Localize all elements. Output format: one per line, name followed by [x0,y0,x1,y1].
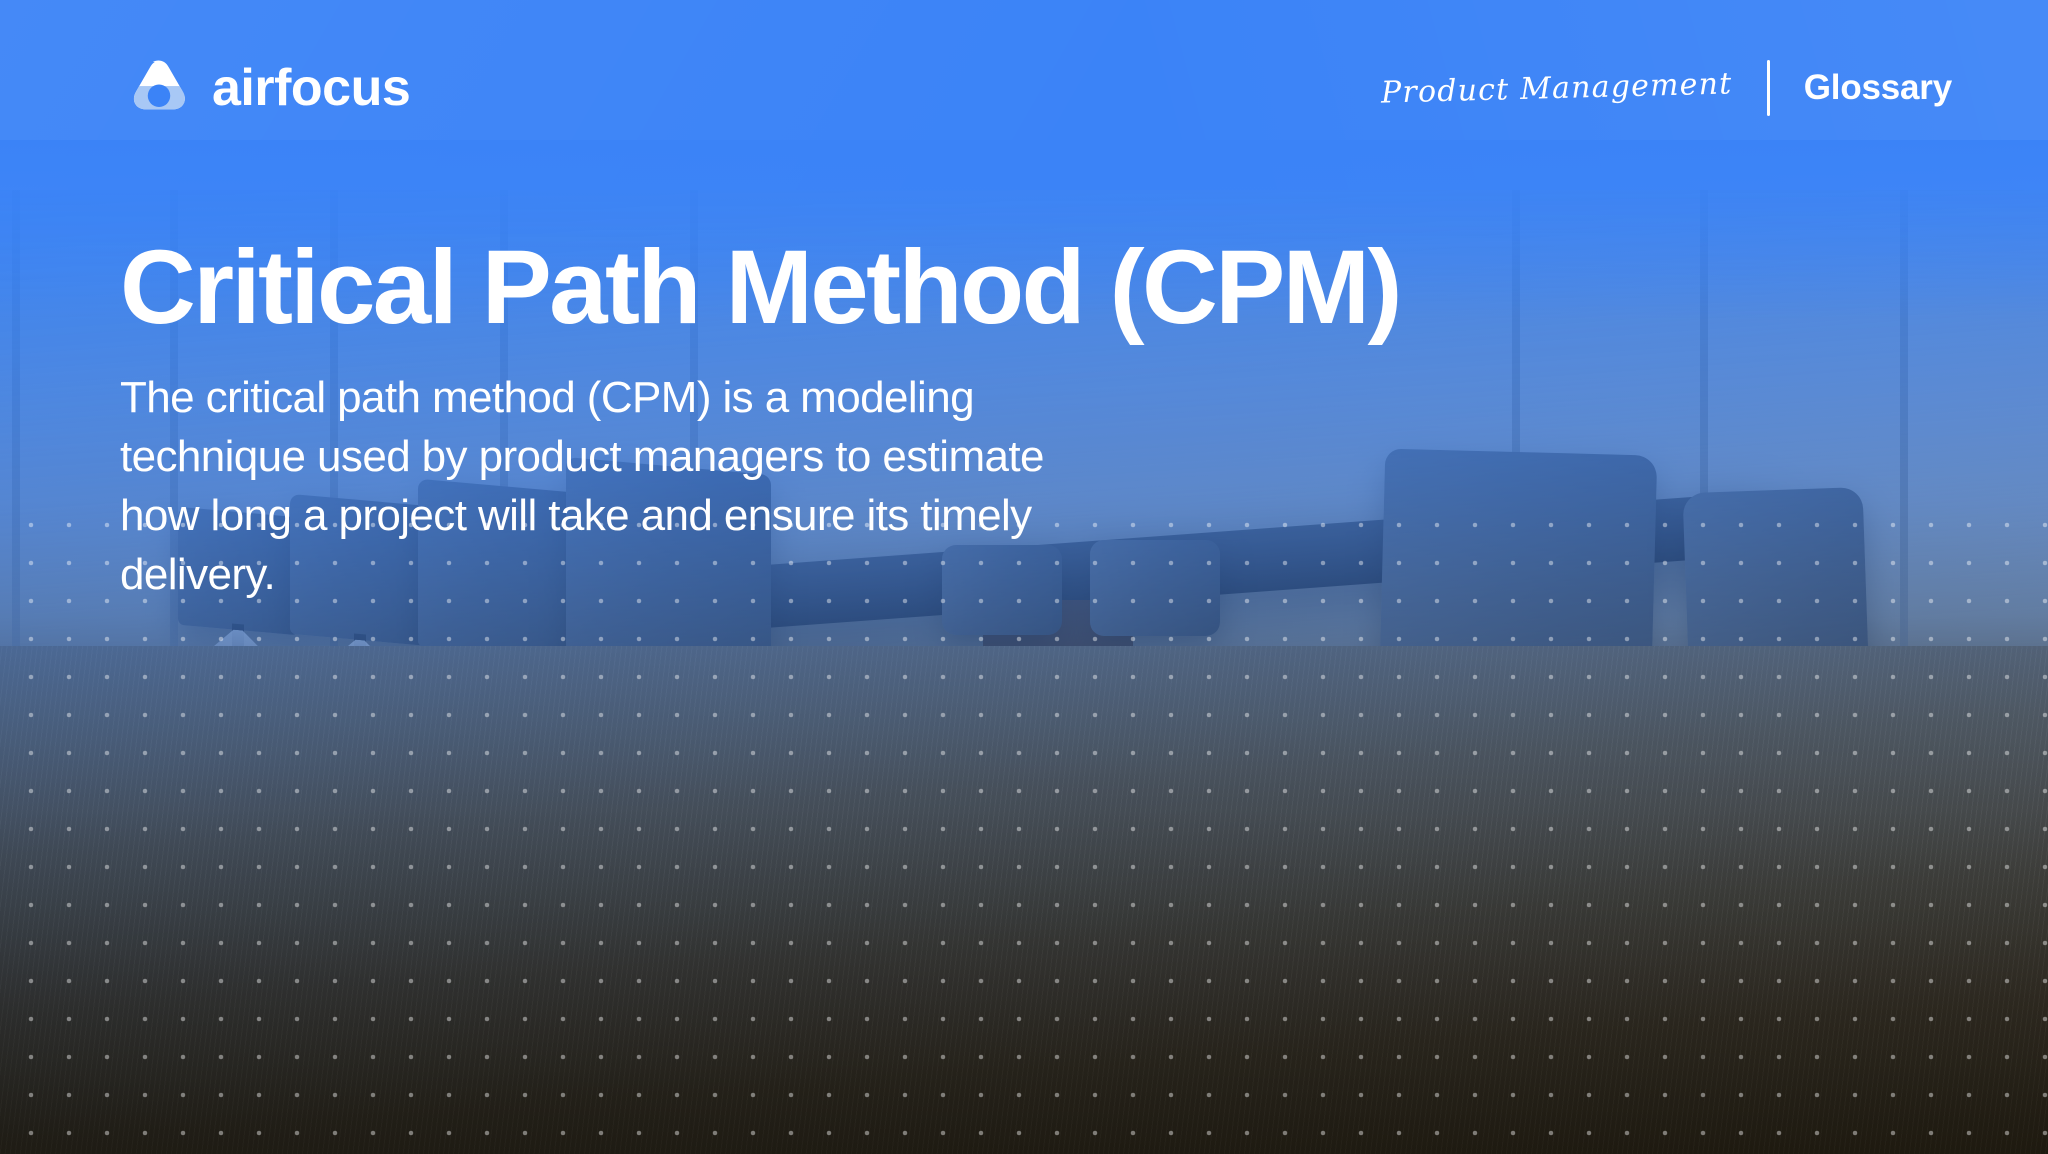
banner-content: airfocus Product Management Glossary Cri… [0,0,2048,1154]
top-bar-right: Product Management Glossary [1381,60,1952,116]
vertical-divider [1767,60,1770,116]
page-title: Critical Path Method (CPM) [120,232,1400,343]
top-bar: airfocus Product Management Glossary [0,52,2048,124]
hero-block: Critical Path Method (CPM) The critical … [120,232,1400,605]
brand-logo[interactable]: airfocus [128,57,410,119]
section-label: Glossary [1804,68,1952,108]
glossary-hero-banner: airfocus Product Management Glossary Cri… [0,0,2048,1154]
page-subtitle: The critical path method (CPM) is a mode… [120,369,1130,605]
airfocus-triangle-logo-icon [128,57,190,119]
category-script-label: Product Management [1381,66,1733,110]
brand-wordmark: airfocus [212,62,410,114]
